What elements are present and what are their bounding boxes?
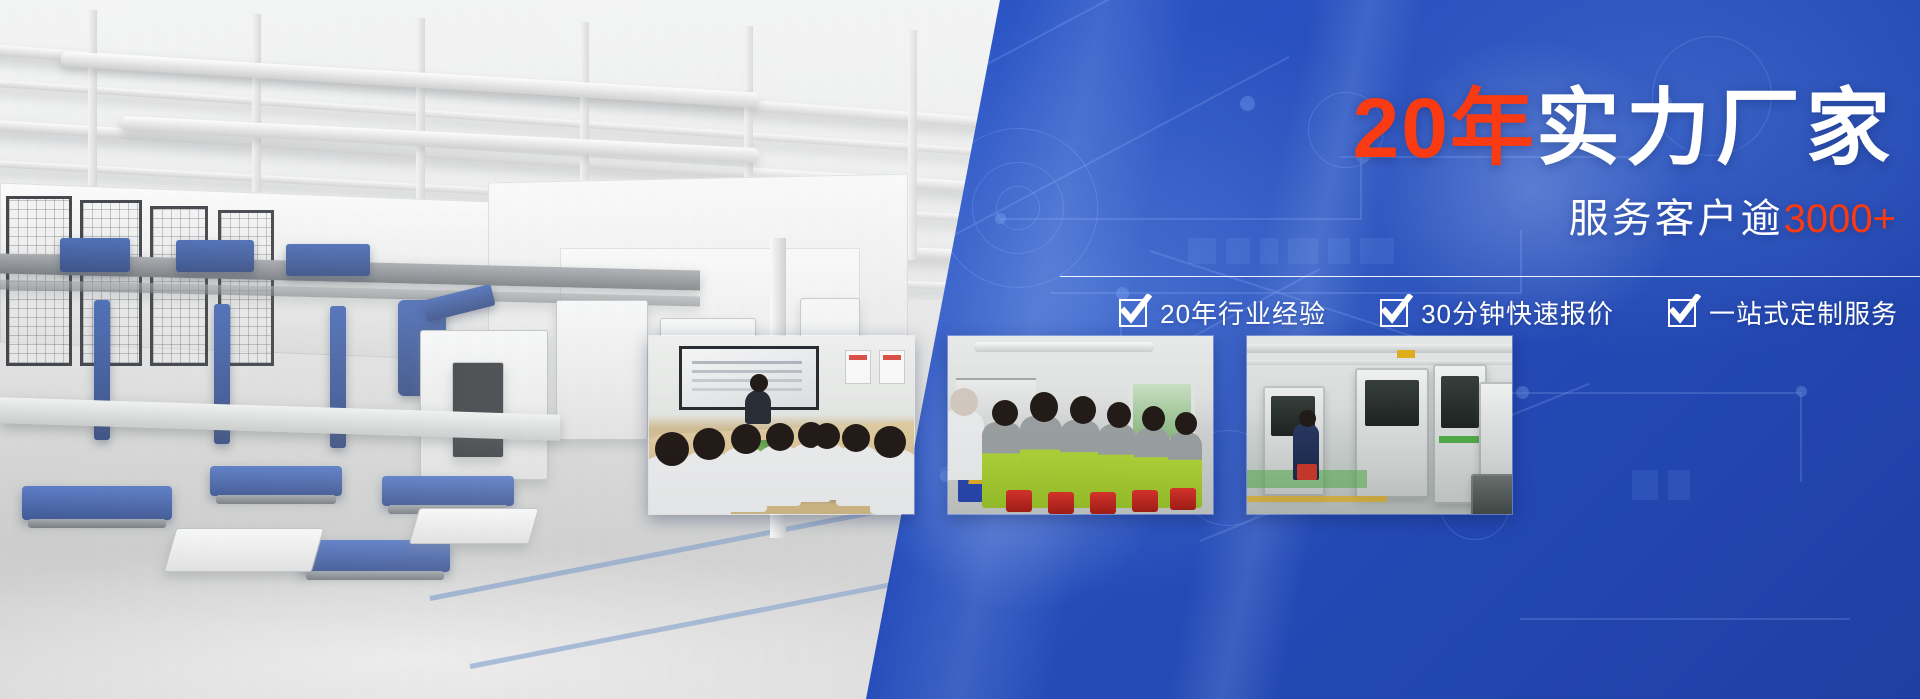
subtitle-count: 3000+ [1784,197,1896,241]
feature-list: 20年行业经验 30分钟快速报价 一站式定制服务 [880,256,1898,331]
photo-strip: 员工会议培训 [648,335,1513,515]
subtitle-text: 服务客户逾 [1569,197,1784,241]
checkbox-checked-icon [1668,299,1696,327]
checkbox-checked-icon [1380,299,1408,327]
feature-item-customization: 一站式定制服务 [1668,294,1898,331]
feature-item-experience: 20年行业经验 [1119,294,1326,331]
feature-item-quote: 30分钟快速报价 [1380,294,1614,331]
feature-label: 一站式定制服务 [1709,294,1898,331]
page-subtitle: 服务客户逾3000+ [996,186,1896,244]
hero-banner: 20年实力厂家 服务客户逾3000+ 20年行业经验 30分钟快速报价 一站式定… [0,0,1920,699]
cnc-workshop-photo[interactable]: CNC加工车间 [1246,335,1513,515]
checkbox-checked-icon [1119,299,1147,327]
feature-label: 20年行业经验 [1160,294,1326,331]
banner-text-block: 20年实力厂家 服务客户逾3000+ [996,86,1896,244]
headline-rest: 实力厂家 [1536,81,1896,175]
headline-number: 20年 [1353,81,1536,175]
assembly-line-photo[interactable]: 生产装配车间 [947,335,1214,515]
page-title: 20年实力厂家 [996,86,1896,172]
feature-label: 30分钟快速报价 [1421,294,1614,331]
meeting-room-photo[interactable]: 员工会议培训 [648,335,915,515]
